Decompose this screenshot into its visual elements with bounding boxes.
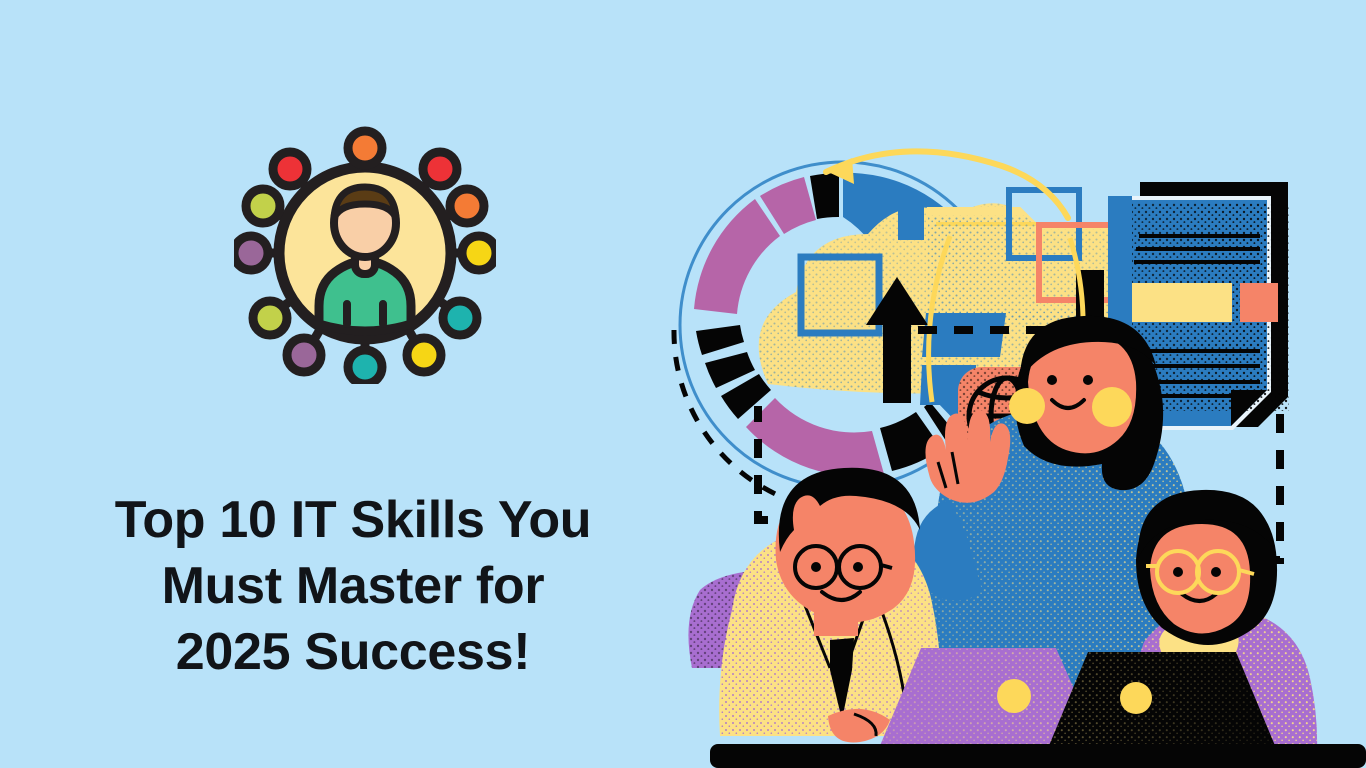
- girl-eye-left: [1173, 567, 1183, 577]
- page-title: Top 10 IT Skills You Must Master for 202…: [48, 487, 658, 685]
- woman-eye-right: [1083, 375, 1093, 385]
- left-content-column: Top 10 IT Skills You Must Master for 202…: [0, 0, 690, 768]
- desk-bar: [710, 744, 1366, 768]
- document-salmon-block: [1240, 283, 1278, 322]
- blue-accent-2: [898, 200, 924, 240]
- blue-accent-1: [922, 313, 1006, 357]
- laptop-purple-logo: [997, 679, 1031, 713]
- girl-eye-right: [1211, 567, 1221, 577]
- man-eye-left: [811, 562, 821, 572]
- network-people-icon: [234, 122, 496, 384]
- earring-right: [1092, 387, 1132, 427]
- document-yellow-block: [1126, 283, 1232, 322]
- it-team-technology-illustration: [640, 0, 1366, 768]
- earring-left: [1009, 388, 1045, 424]
- woman-eye-left: [1047, 375, 1057, 385]
- banner-root: Top 10 IT Skills You Must Master for 202…: [0, 0, 1366, 768]
- laptop-black-logo: [1120, 682, 1152, 714]
- man-eye-right: [853, 562, 863, 572]
